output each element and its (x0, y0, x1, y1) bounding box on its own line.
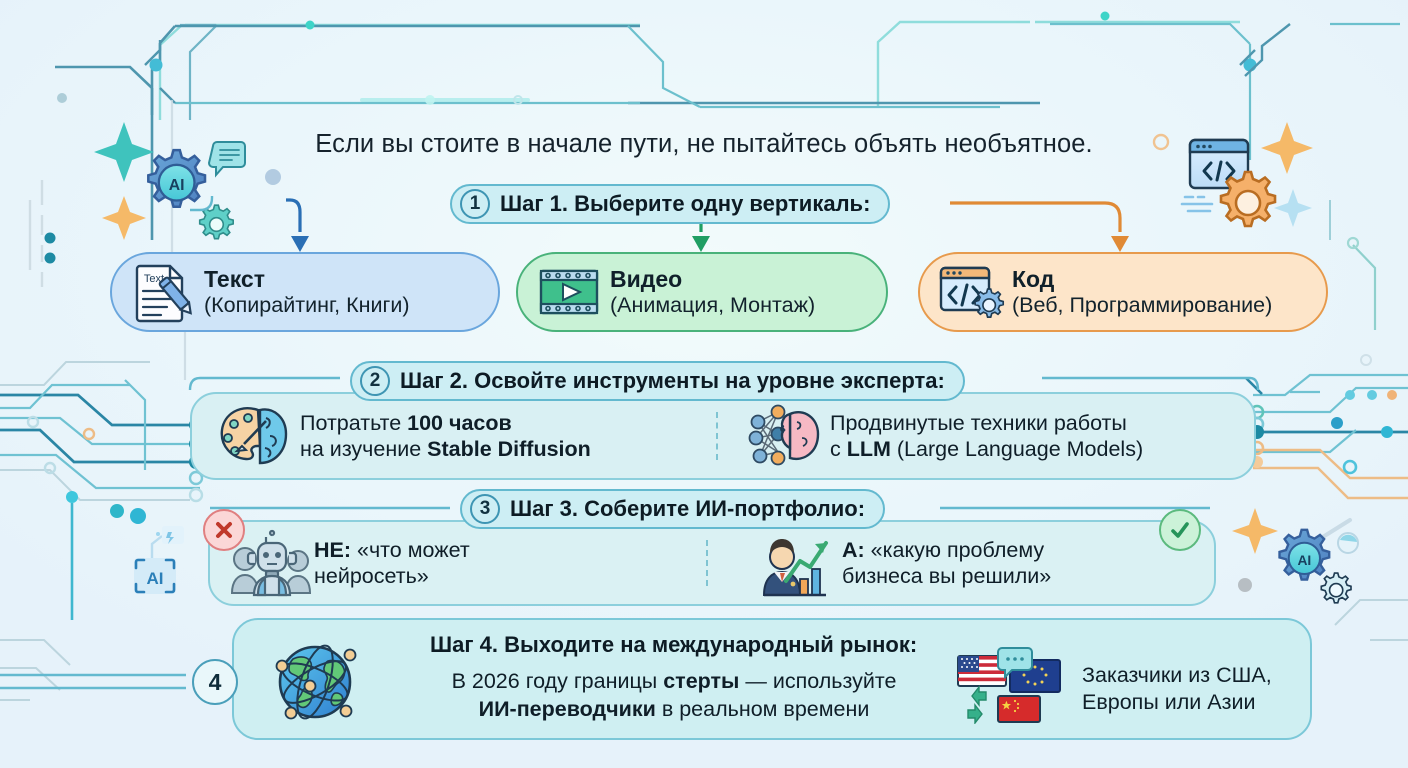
step-4-body: В 2026 году границы стерты — используйте… (394, 668, 954, 724)
document-pencil-icon: Text (128, 260, 198, 324)
globe-network-icon (260, 637, 370, 727)
code-window-gear-icon (936, 260, 1006, 324)
step-1-title-pill: 1 Шаг 1. Выберите одну вертикаль: (450, 184, 890, 224)
step-4-right-copy: Заказчики из США, Европы или Азии (1082, 662, 1272, 716)
s4-line2a: ИИ-переводчики (479, 697, 656, 721)
step-2-divider (716, 412, 718, 460)
s4-line2b: в реальном времени (656, 697, 870, 721)
vertical-code-detail: (Веб, Программирование) (1012, 293, 1272, 318)
s4r-line2: Европы или Азии (1082, 689, 1272, 716)
s3r-label: А: (842, 538, 865, 562)
neural-network-brain-icon (744, 400, 830, 472)
vertical-card-code[interactable]: Код (Веб, Программирование) (918, 252, 1328, 332)
s2r-line2c: (Large Language Models) (891, 437, 1143, 461)
s3r-line2: бизнеса вы решили» (842, 563, 1051, 589)
businessman-chart-icon (756, 527, 842, 599)
s2l-line1a: Потратьте (300, 411, 407, 435)
step-2-right-item: Продвинутые техники работы с LLM (Large … (744, 394, 1143, 478)
vertical-card-text[interactable]: Text Текст (Копирайтинг, Книги) (110, 252, 500, 332)
s2l-line2a: на изучение (300, 437, 427, 461)
flags-translate-icon (956, 644, 1068, 724)
step-2-left-item: Потратьте 100 часов на изучение Stable D… (214, 394, 591, 478)
step-1-number: 1 (460, 189, 490, 219)
step-3-left-copy: НЕ: «что может нейросеть» (314, 537, 470, 589)
vertical-card-video[interactable]: Видео (Анимация, Монтаж) (516, 252, 888, 332)
step-3-title-pill: 3 Шаг 3. Соберите ИИ-портфолио: (460, 489, 885, 529)
step-2-title-pill: 2 Шаг 2. Освойте инструменты на уровне э… (350, 361, 965, 401)
s2l-line2b: Stable Diffusion (427, 437, 591, 461)
s2r-line1: Продвинутые техники работы (830, 410, 1143, 436)
s4-line1a: В 2026 году границы (452, 669, 664, 693)
step-4-panel: Шаг 4. Выходите на международный рынок: … (232, 618, 1312, 740)
vertical-video-name: Видео (610, 267, 815, 293)
step-3-title: Шаг 3. Соберите ИИ-портфолио: (510, 496, 865, 522)
s2l-line1b: 100 часов (407, 411, 512, 435)
s4-line1b: стерты (663, 669, 739, 693)
palette-brain-icon (214, 400, 300, 472)
step-4-number-badge: 4 (192, 659, 238, 705)
step-2-right-copy: Продвинутые техники работы с LLM (Large … (830, 410, 1143, 462)
step-3-divider (706, 540, 708, 586)
cross-badge-icon (203, 509, 245, 551)
vertical-text-detail: (Копирайтинг, Книги) (204, 293, 410, 318)
step-2-title: Шаг 2. Освойте инструменты на уровне экс… (400, 368, 945, 394)
film-play-icon (534, 260, 604, 324)
step-2-number: 2 (360, 366, 390, 396)
page-title: Если вы стоите в начале пути, не пытайте… (0, 130, 1408, 159)
infographic-canvas: AI (0, 0, 1408, 768)
vertical-text-name: Текст (204, 267, 410, 293)
vertical-code-name: Код (1012, 267, 1272, 293)
check-badge-icon (1159, 509, 1201, 551)
step-3-right-item: А: «какую проблему бизнеса вы решили» (756, 522, 1051, 604)
step-3-panel: НЕ: «что может нейросеть» (208, 520, 1216, 606)
s4r-line1: Заказчики из США, (1082, 662, 1272, 689)
s4-line1c: — используйте (739, 669, 896, 693)
step-3-left-item: НЕ: «что может нейросеть» (228, 522, 470, 604)
s3r-line1: «какую проблему (865, 538, 1044, 562)
step-1-title: Шаг 1. Выберите одну вертикаль: (500, 191, 870, 217)
s2r-line2a: с (830, 437, 847, 461)
s3l-line1: «что может (351, 538, 470, 562)
s3l-line2: нейросеть» (314, 563, 470, 589)
vertical-video-detail: (Анимация, Монтаж) (610, 293, 815, 318)
s3l-label: НЕ: (314, 538, 351, 562)
step-3-number: 3 (470, 494, 500, 524)
step-3-right-copy: А: «какую проблему бизнеса вы решили» (842, 537, 1051, 589)
s2r-line2b: LLM (847, 437, 891, 461)
step-4-title: Шаг 4. Выходите на международный рынок: (430, 632, 917, 658)
step-2-panel: Потратьте 100 часов на изучение Stable D… (190, 392, 1256, 480)
step-2-left-copy: Потратьте 100 часов на изучение Stable D… (300, 410, 591, 462)
